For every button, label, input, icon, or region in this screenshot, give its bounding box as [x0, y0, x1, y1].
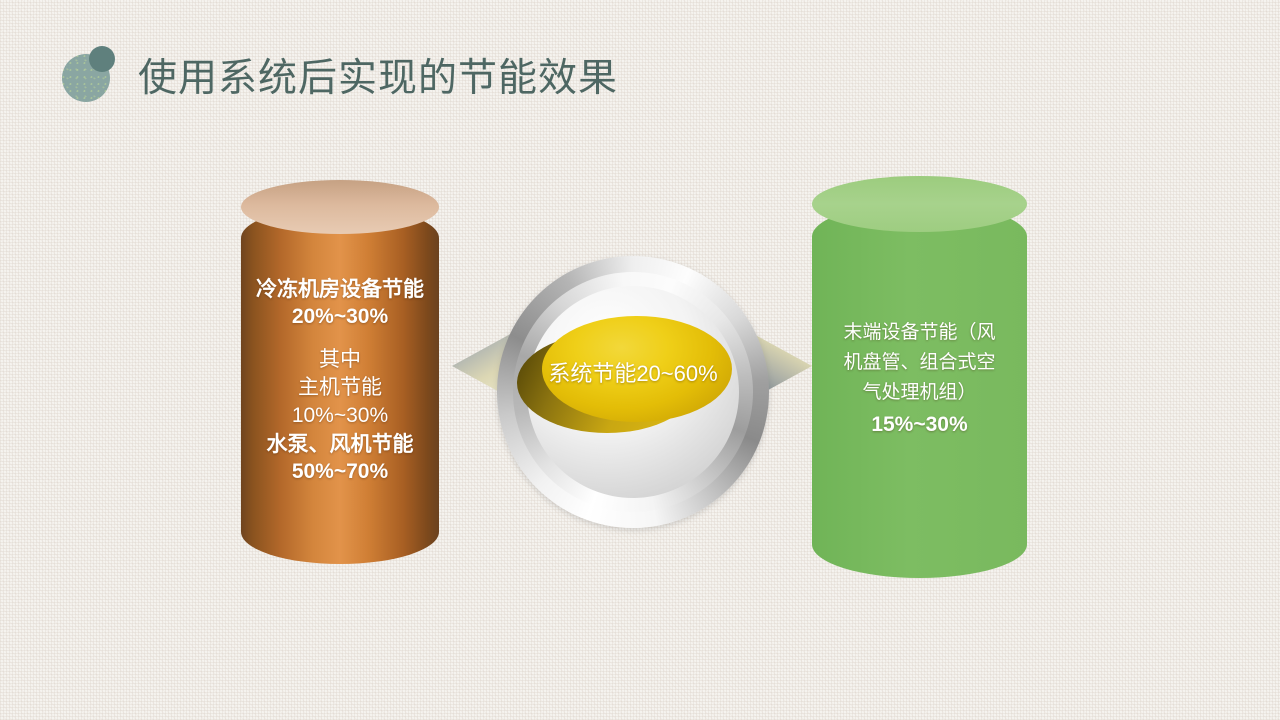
left-cylinder-line-7: 50%~70%	[241, 458, 439, 485]
left-cylinder-line-3: 其中	[241, 346, 439, 374]
right-cylinder-line-3: 气处理机组）	[812, 378, 1027, 408]
left-cylinder-top-ellipse	[241, 180, 439, 234]
logo-small-circle-icon	[89, 46, 115, 72]
slide-canvas: 使用系统后实现的节能效果 冷冻机房设备节能 20%~30% 其中 主机节能 10…	[0, 0, 1280, 720]
right-cylinder-line-1: 末端设备节能（风	[812, 318, 1027, 348]
left-cylinder-line-1: 冷冻机房设备节能	[241, 276, 439, 303]
slide-header: 使用系统后实现的节能效果	[0, 0, 1280, 130]
right-cylinder-top-ellipse	[812, 176, 1027, 232]
left-cylinder: 冷冻机房设备节能 20%~30% 其中 主机节能 10%~30% 水泵、风机节能…	[241, 206, 439, 564]
logo-mark	[62, 46, 120, 104]
center-badge: 系统节能20~60%	[497, 256, 769, 528]
right-cylinder-line-4: 15%~30%	[812, 410, 1027, 440]
page-title: 使用系统后实现的节能效果	[138, 56, 618, 102]
left-cylinder-line-2: 20%~30%	[241, 303, 439, 330]
right-cylinder-line-2: 机盘管、组合式空	[812, 348, 1027, 378]
left-cylinder-line-5: 10%~30%	[241, 402, 439, 430]
left-cylinder-line-4: 主机节能	[241, 374, 439, 402]
center-badge-label: 系统节能20~60%	[497, 356, 769, 388]
left-cylinder-line-6: 水泵、风机节能	[241, 431, 439, 458]
right-cylinder: 末端设备节能（风 机盘管、组合式空 气处理机组） 15%~30%	[812, 203, 1027, 578]
